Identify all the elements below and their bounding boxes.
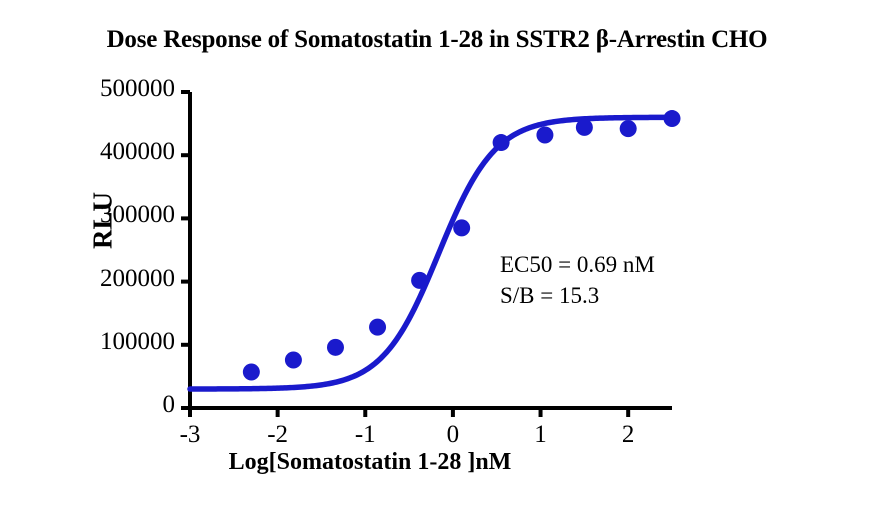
x-tick-label: 0 xyxy=(423,421,483,449)
data-point xyxy=(493,134,510,151)
annotation-signal-to-background: S/B = 15.3 xyxy=(500,283,599,309)
y-tick-label: 400000 xyxy=(5,138,175,166)
x-tick-label: -2 xyxy=(248,421,308,449)
x-tick-label: -1 xyxy=(335,421,395,449)
data-point xyxy=(327,339,344,356)
data-point xyxy=(536,126,553,143)
chart-root: Dose Response of Somatostatin 1-28 in SS… xyxy=(0,0,874,509)
y-tick-label: 200000 xyxy=(5,265,175,293)
y-tick-label: 0 xyxy=(5,391,175,419)
data-points xyxy=(243,110,681,380)
data-point xyxy=(285,351,302,368)
x-tick-label: 1 xyxy=(511,421,571,449)
data-point xyxy=(576,119,593,136)
x-tick-label: 2 xyxy=(598,421,658,449)
data-point xyxy=(620,120,637,137)
x-tick-label: -3 xyxy=(160,421,220,449)
annotation-ec50: EC50 = 0.69 nM xyxy=(500,252,655,278)
y-tick-label: 500000 xyxy=(5,75,175,103)
data-point xyxy=(453,219,470,236)
data-point xyxy=(369,319,386,336)
data-point xyxy=(243,363,260,380)
data-point xyxy=(664,110,681,127)
y-tick-label: 300000 xyxy=(5,201,175,229)
y-tick-label: 100000 xyxy=(5,328,175,356)
data-point xyxy=(411,272,428,289)
